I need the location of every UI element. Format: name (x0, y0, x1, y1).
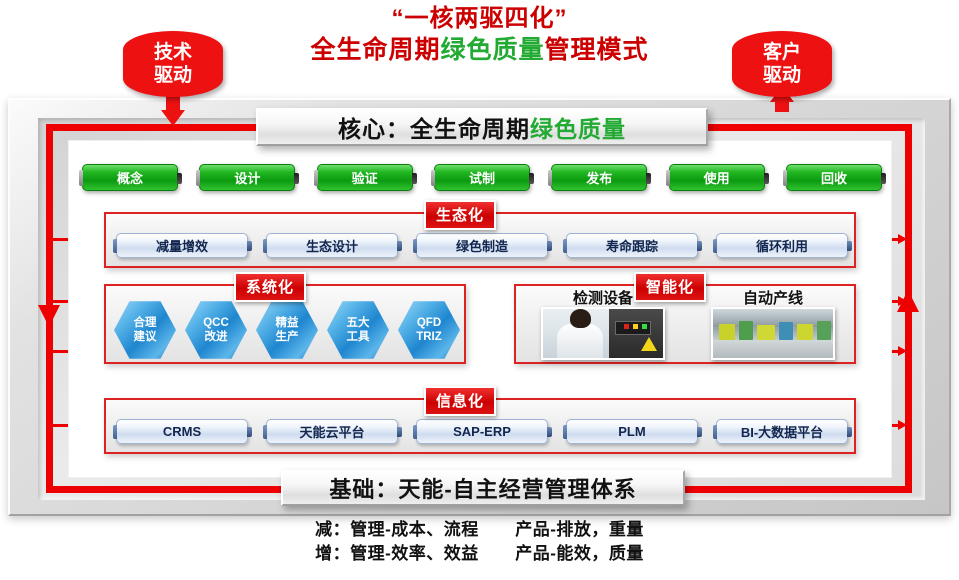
systematization-item[interactable]: 合理 建议 (114, 300, 176, 360)
base-plaque: 基础：天能-自主经营管理体系 (281, 470, 685, 506)
informatization-item[interactable]: 天能云平台 (266, 419, 398, 444)
systematization-item[interactable]: 五大 工具 (327, 300, 389, 360)
section-systematization-items: 合理 建议 QCC 改进 精益 生产 五大 工具 QFD TRIZ (114, 300, 460, 360)
section-systematization: 系统化 合理 建议 QCC 改进 精益 生产 五大 工具 QFD TRIZ (104, 284, 466, 364)
ecological-item-label: 减量增效 (156, 236, 208, 255)
lifecycle-stage[interactable]: 验证 (317, 164, 413, 191)
bottom-notes: 减：管理-成本、流程 产品-排放，重量 增：管理-效率、效益 产品-能效，质量 (0, 518, 959, 566)
lifecycle-stage[interactable]: 设计 (199, 164, 295, 191)
ecological-item[interactable]: 寿命跟踪 (566, 233, 698, 258)
photo-machine-unit (779, 322, 793, 340)
ecological-item[interactable]: 循环利用 (716, 233, 848, 258)
bottom-note-right: 产品-排放，重量 (515, 520, 644, 539)
ecological-item-label: 生态设计 (306, 236, 358, 255)
systematization-item-line-2: 工具 (347, 330, 370, 344)
section-ecological-label: 生态化 (424, 200, 496, 230)
lifecycle-stage[interactable]: 概念 (82, 164, 178, 191)
loop-arrow-up-icon (897, 290, 919, 312)
intelligent-photo-production-line: 自动产线 (698, 290, 848, 362)
core-plaque: 核心：全生命周期绿色质量 (256, 108, 708, 146)
bottom-note-left: 减：管理-成本、流程 (315, 520, 479, 539)
title-line-2-prefix: 全生命周期 (310, 36, 440, 64)
photo-machine-unit (757, 325, 775, 340)
lifecycle-stage[interactable]: 回收 (786, 164, 882, 191)
systematization-item-line-1: QCC (203, 316, 229, 330)
section-systematization-label: 系统化 (234, 272, 306, 302)
lifecycle-stage[interactable]: 发布 (551, 164, 647, 191)
photo-machine-unit (739, 321, 753, 340)
ecological-item[interactable]: 减量增效 (116, 233, 248, 258)
loop-arrow-down-icon (38, 305, 60, 327)
inspection-equipment-photo (541, 307, 665, 360)
lifecycle-stage-label: 验证 (352, 168, 378, 187)
photo-warning-triangle-icon (641, 337, 657, 351)
lifecycle-stage-label: 设计 (234, 168, 260, 187)
systematization-item[interactable]: QFD TRIZ (398, 300, 460, 360)
informatization-item[interactable]: CRMS (116, 419, 248, 444)
title-line-1: “一核两驱四化” (0, 4, 959, 34)
section-informatization: 信息化 CRMS 天能云平台 SAP-ERP PLM BI-大数据平台 (104, 398, 856, 454)
informatization-item-label: SAP-ERP (453, 424, 511, 439)
ecological-item[interactable]: 绿色制造 (416, 233, 548, 258)
ecological-item-label: 循环利用 (756, 236, 808, 255)
informatization-item-label: PLM (618, 424, 645, 439)
lifecycle-stage-row: 概念 设计 验证 试制 发布 使用 回收 (82, 158, 882, 196)
photo-machine-unit (817, 321, 831, 340)
photo-indicator-red-icon (624, 324, 629, 329)
ecological-item-label: 绿色制造 (456, 236, 508, 255)
systematization-item-line-1: 合理 (134, 316, 157, 330)
systematization-item-line-1: QFD (417, 316, 441, 330)
systematization-item[interactable]: QCC 改进 (185, 300, 247, 360)
systematization-item[interactable]: 精益 生产 (256, 300, 318, 360)
intelligent-photo-inspection-caption: 检测设备 (573, 290, 633, 307)
informatization-item[interactable]: BI-大数据平台 (716, 419, 848, 444)
lifecycle-stage-label: 发布 (586, 168, 612, 187)
intelligent-photo-production-line-caption: 自动产线 (743, 290, 803, 307)
section-intelligent-label: 智能化 (634, 272, 706, 302)
ecological-item-label: 寿命跟踪 (606, 236, 658, 255)
informatization-item-label: CRMS (163, 424, 201, 439)
lifecycle-stage[interactable]: 使用 (669, 164, 765, 191)
driver-customer-line-1: 客户 (763, 41, 801, 64)
title-line-2-suffix: 管理模式 (545, 36, 649, 64)
informatization-item-label: BI-大数据平台 (741, 422, 823, 441)
section-informatization-label: 信息化 (424, 386, 496, 416)
lifecycle-stage-label: 概念 (117, 168, 143, 187)
lifecycle-stage-label: 使用 (704, 168, 730, 187)
title-line-2-highlight: 绿色质量 (440, 36, 544, 64)
ecological-item[interactable]: 生态设计 (266, 233, 398, 258)
systematization-item-line-2: 建议 (134, 330, 157, 344)
lifecycle-stage-label: 试制 (469, 168, 495, 187)
automatic-production-line-photo (711, 307, 835, 360)
photo-factory-floor (713, 340, 833, 358)
systematization-item-line-1: 精益 (276, 316, 299, 330)
section-intelligent: 智能化 检测设备 自动产线 (514, 284, 856, 364)
driver-banner-customer: 客户 驱动 (732, 31, 832, 97)
driver-technology-line-2: 驱动 (154, 64, 192, 87)
systematization-item-line-2: 改进 (205, 330, 228, 344)
section-ecological-items: 减量增效 生态设计 绿色制造 寿命跟踪 循环利用 (116, 232, 848, 258)
driver-technology-arrow-down-icon (161, 110, 185, 126)
lifecycle-stage[interactable]: 试制 (434, 164, 530, 191)
driver-technology-line-1: 技术 (154, 41, 192, 64)
diagram-canvas: “一核两驱四化” 全生命周期绿色质量管理模式 技术 驱动 客户 驱动 核心：全生… (0, 0, 959, 580)
photo-indicator-yellow-icon (633, 324, 638, 329)
bottom-note-right: 产品-能效，质量 (515, 544, 644, 563)
photo-machine-unit (719, 324, 735, 340)
photo-indicator-green-icon (642, 324, 647, 329)
informatization-item[interactable]: SAP-ERP (416, 419, 548, 444)
systematization-item-line-1: 五大 (347, 316, 370, 330)
driver-customer-line-2: 驱动 (763, 64, 801, 87)
photo-machine-unit (797, 324, 813, 340)
bottom-note-row: 减：管理-成本、流程 产品-排放，重量 (0, 518, 959, 542)
photo-technician-coat (557, 324, 603, 358)
informatization-item-label: 天能云平台 (299, 422, 364, 441)
core-plaque-highlight: 绿色质量 (530, 110, 626, 144)
base-plaque-label: 基础：天能-自主经营管理体系 (329, 472, 636, 504)
bottom-note-row: 增：管理-效率、效益 产品-能效，质量 (0, 542, 959, 566)
systematization-item-line-2: TRIZ (416, 330, 442, 344)
photo-technician-head (570, 309, 591, 328)
core-plaque-prefix: 核心：全生命周期 (338, 110, 530, 144)
driver-banner-technology: 技术 驱动 (123, 31, 223, 97)
systematization-item-line-2: 生产 (276, 330, 299, 344)
lifecycle-stage-label: 回收 (821, 168, 847, 187)
section-informatization-items: CRMS 天能云平台 SAP-ERP PLM BI-大数据平台 (116, 418, 848, 444)
bottom-note-left: 增：管理-效率、效益 (315, 544, 479, 563)
informatization-item[interactable]: PLM (566, 419, 698, 444)
section-ecological: 生态化 减量增效 生态设计 绿色制造 寿命跟踪 循环利用 (104, 212, 856, 268)
